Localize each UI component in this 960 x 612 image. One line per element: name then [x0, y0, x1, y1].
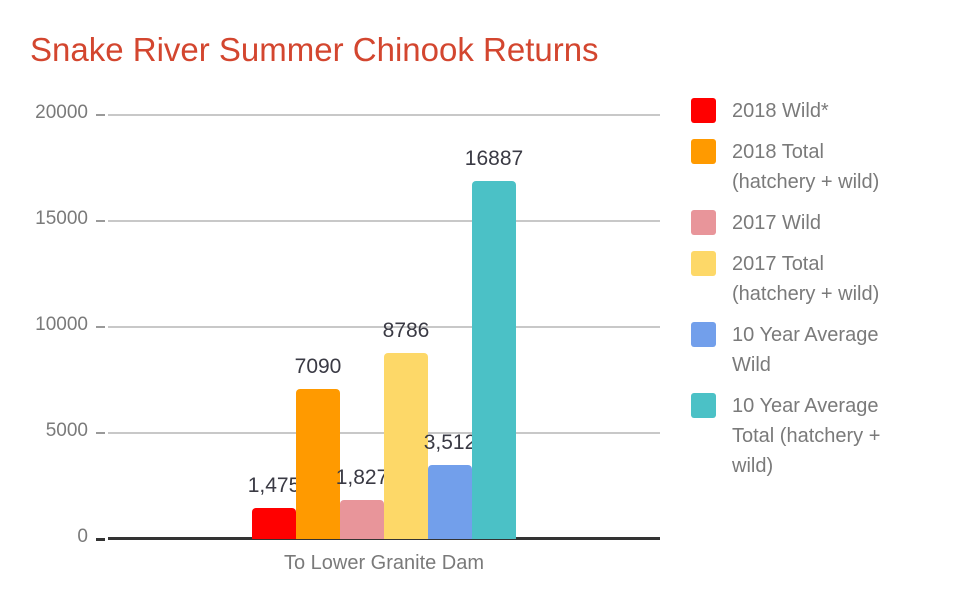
- y-axis-tick-mark: [96, 220, 105, 222]
- x-axis-label: To Lower Granite Dam: [108, 552, 660, 575]
- bar-value-label: 7090: [258, 355, 378, 379]
- legend-item[interactable]: 2018 Total(hatchery + wild): [691, 137, 953, 197]
- chart-legend: 2018 Wild*2018 Total(hatchery + wild)201…: [691, 96, 953, 492]
- bar-value-label: 16887: [434, 147, 554, 171]
- gridline: [108, 114, 660, 116]
- legend-swatch-icon: [691, 322, 716, 347]
- bar-value-label: 8786: [346, 319, 466, 343]
- y-axis-tick-mark: [96, 326, 105, 328]
- legend-item[interactable]: 2017 Wild: [691, 208, 953, 238]
- legend-item[interactable]: 2017 Total(hatchery + wild): [691, 249, 953, 309]
- bar[interactable]: [252, 508, 296, 539]
- y-axis-tick-label: 15000: [0, 208, 88, 230]
- legend-label: 2018 Total(hatchery + wild): [732, 137, 879, 197]
- plot-area: 1,47570901,82787863,51216887: [108, 115, 660, 539]
- y-axis-tick-label: 0: [0, 526, 88, 548]
- bar[interactable]: [472, 181, 516, 539]
- y-axis-tick-label: 10000: [0, 314, 88, 336]
- legend-label: 2017 Total(hatchery + wild): [732, 249, 879, 309]
- legend-label: 10 Year AverageTotal (hatchery +wild): [732, 391, 880, 481]
- y-axis-tick-label: 5000: [0, 420, 88, 442]
- bar[interactable]: [296, 389, 340, 539]
- legend-item[interactable]: 10 Year AverageTotal (hatchery +wild): [691, 391, 953, 481]
- gridline: [108, 220, 660, 222]
- legend-label: 10 Year AverageWild: [732, 320, 878, 380]
- legend-swatch-icon: [691, 139, 716, 164]
- bar[interactable]: [428, 465, 472, 539]
- y-axis-tick-mark: [96, 538, 105, 541]
- chart-title: Snake River Summer Chinook Returns: [30, 31, 599, 69]
- legend-swatch-icon: [691, 251, 716, 276]
- y-axis-tick-mark: [96, 114, 105, 116]
- chart-container: Snake River Summer Chinook Returns 1,475…: [0, 0, 960, 612]
- legend-label: 2017 Wild: [732, 208, 821, 238]
- legend-swatch-icon: [691, 98, 716, 123]
- y-axis-tick-mark: [96, 432, 105, 434]
- y-axis-tick-label: 20000: [0, 102, 88, 124]
- legend-item[interactable]: 10 Year AverageWild: [691, 320, 953, 380]
- legend-label: 2018 Wild*: [732, 96, 829, 126]
- legend-swatch-icon: [691, 393, 716, 418]
- legend-swatch-icon: [691, 210, 716, 235]
- legend-item[interactable]: 2018 Wild*: [691, 96, 953, 126]
- bar[interactable]: [340, 500, 384, 539]
